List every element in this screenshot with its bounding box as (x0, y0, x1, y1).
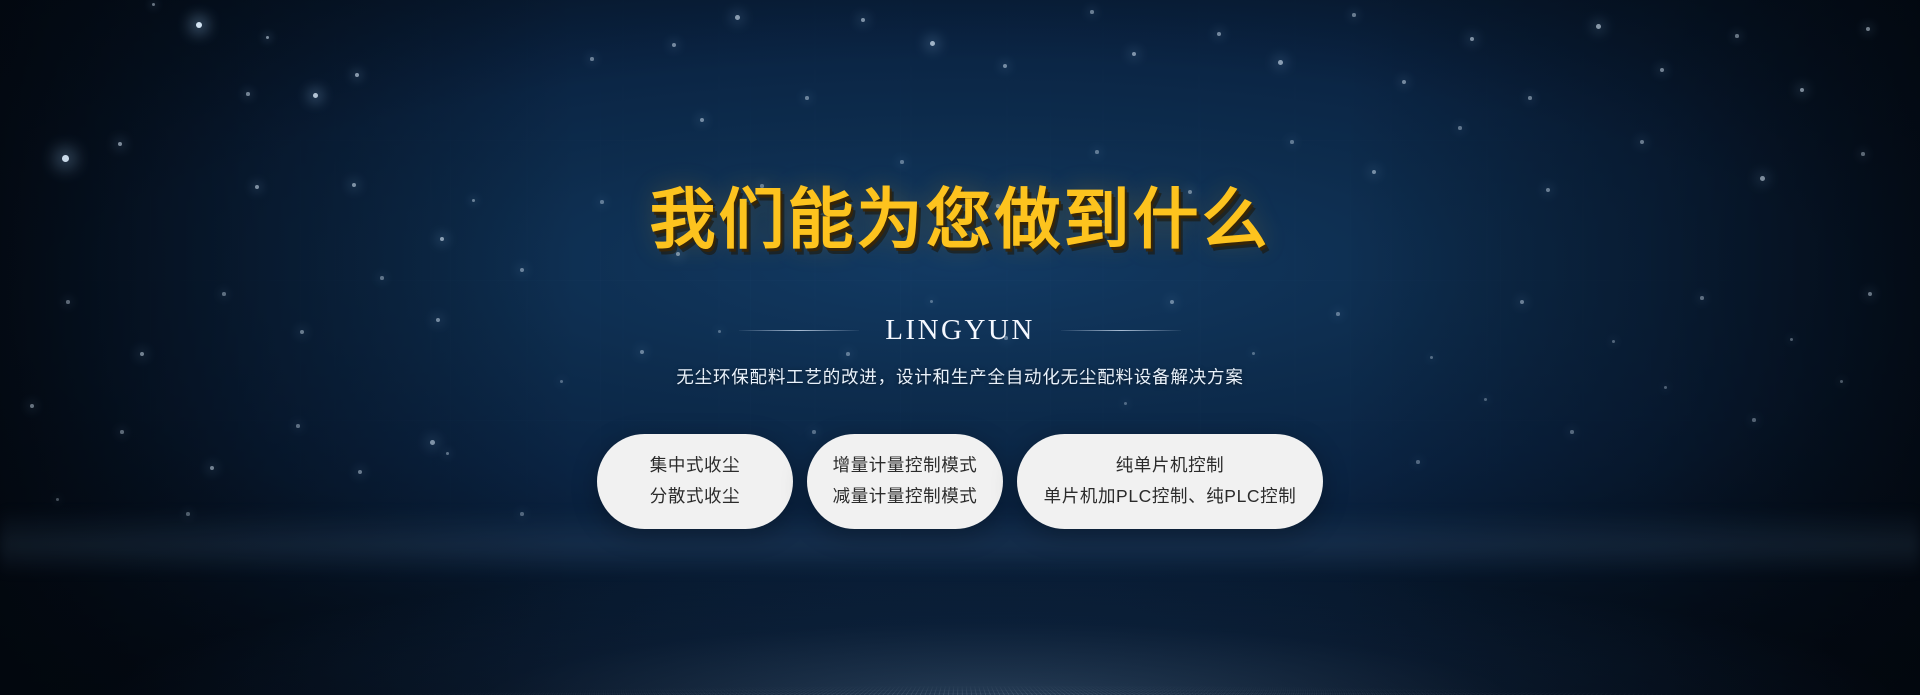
card-line-1: 纯单片机控制 (1116, 455, 1225, 475)
hero-banner: 我们能为您做到什么 LINGYUN 无尘环保配料工艺的改进，设计和生产全自动化无… (0, 0, 1920, 695)
divider-left (739, 330, 859, 331)
card-line-2: 分散式收尘 (650, 486, 741, 506)
card-line-1: 集中式收尘 (650, 455, 741, 475)
divider-right (1061, 330, 1181, 331)
feature-card-control-system[interactable]: 纯单片机控制 单片机加PLC控制、纯PLC控制 (1017, 434, 1323, 529)
tagline: 无尘环保配料工艺的改进，设计和生产全自动化无尘配料设备解决方案 (676, 364, 1243, 389)
card-line-1: 增量计量控制模式 (833, 455, 978, 475)
page-title: 我们能为您做到什么 (650, 186, 1271, 252)
card-line-2: 单片机加PLC控制、纯PLC控制 (1044, 486, 1297, 506)
feature-card-list: 集中式收尘 分散式收尘 增量计量控制模式 减量计量控制模式 纯单片机控制 单片机… (597, 434, 1323, 529)
brand-name: LINGYUN (885, 314, 1035, 347)
feature-card-metering-mode[interactable]: 增量计量控制模式 减量计量控制模式 (807, 434, 1003, 529)
card-line-2: 减量计量控制模式 (833, 486, 978, 506)
brand-row: LINGYUN (0, 314, 1920, 347)
feature-card-dust-collection[interactable]: 集中式收尘 分散式收尘 (597, 434, 793, 529)
banner-content: 我们能为您做到什么 LINGYUN 无尘环保配料工艺的改进，设计和生产全自动化无… (0, 0, 1920, 695)
